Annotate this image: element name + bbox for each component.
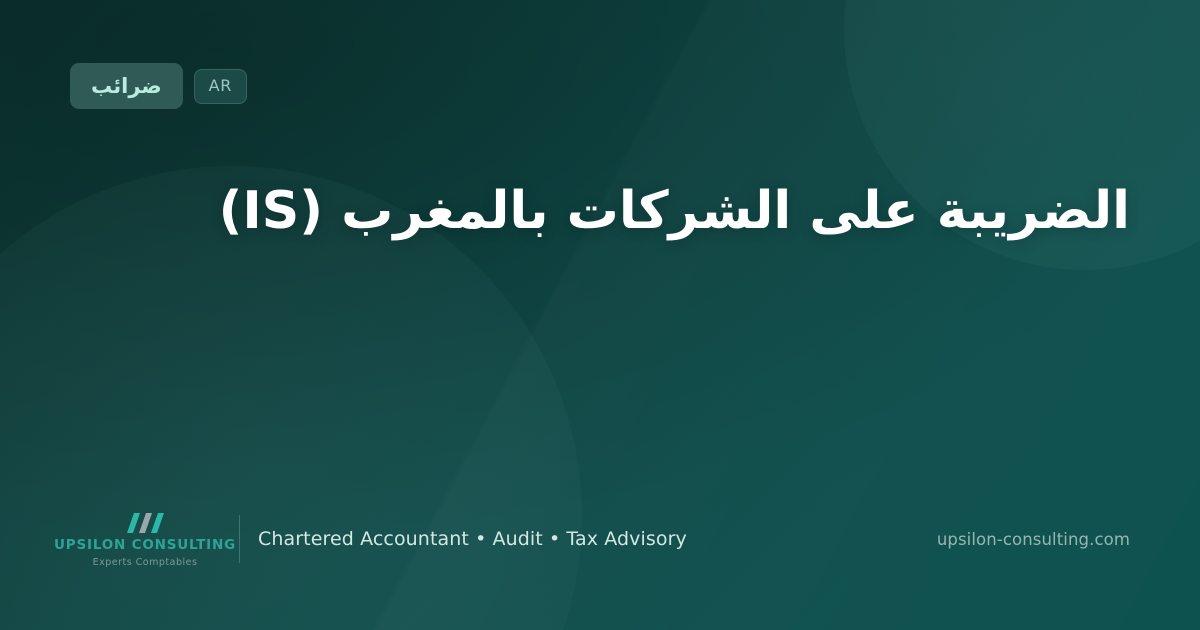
footer-divider	[239, 515, 240, 563]
brand-lockup: UPSILON CONSULTING Experts Comptables	[70, 511, 220, 567]
brand-subtitle: Experts Comptables	[93, 558, 198, 568]
footer-website[interactable]: upsilon-consulting.com	[937, 530, 1130, 549]
topic-badge[interactable]: ضرائب	[70, 63, 183, 109]
page-title: الضريبة على الشركات بالمغرب (IS)	[70, 178, 1130, 246]
footer: UPSILON CONSULTING Experts Comptables Ch…	[70, 504, 1130, 574]
badge-group: ضرائب AR	[70, 63, 247, 109]
language-badge[interactable]: AR	[194, 69, 247, 104]
brand-name: UPSILON CONSULTING	[54, 539, 236, 553]
upsilon-logo-mark-icon	[118, 511, 172, 535]
social-card: ضرائب AR الضريبة على الشركات بالمغرب (IS…	[0, 0, 1200, 630]
footer-tagline: Chartered Accountant • Audit • Tax Advis…	[258, 528, 687, 550]
